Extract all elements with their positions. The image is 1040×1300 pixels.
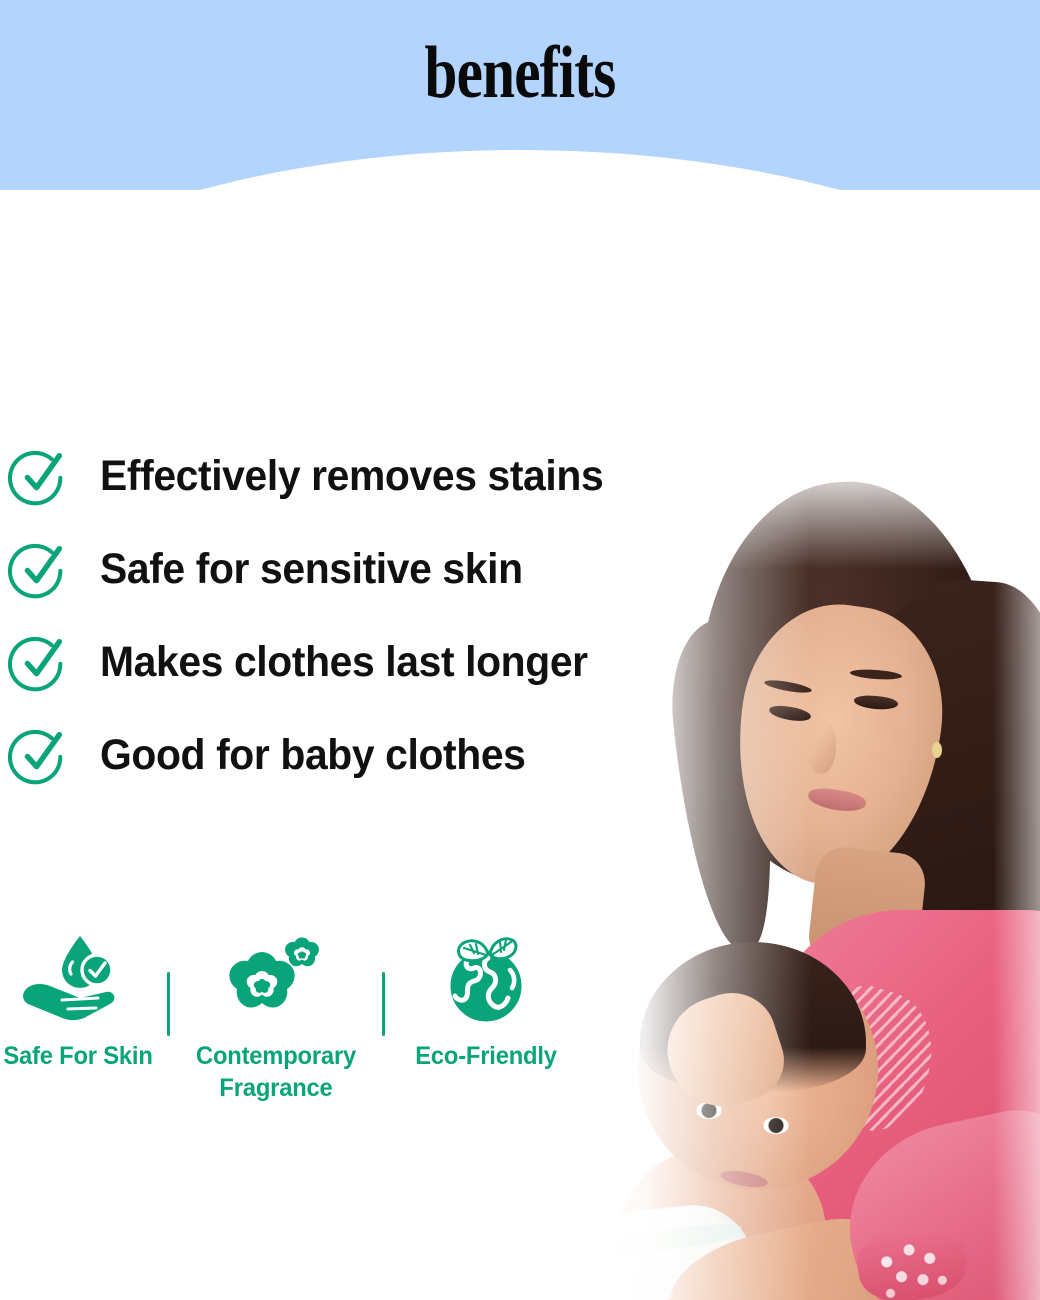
feature-badges: Safe For Skin Contemporary Fragrance bbox=[0, 930, 600, 1130]
globe-leaf-icon bbox=[426, 930, 546, 1026]
check-circle-icon bbox=[8, 632, 70, 694]
benefit-label: Makes clothes last longer bbox=[100, 641, 588, 684]
benefit-item: Safe for sensitive skin bbox=[8, 523, 748, 616]
benefit-item: Effectively removes stains bbox=[8, 430, 748, 523]
check-circle-icon bbox=[8, 539, 70, 601]
page-title: benefits bbox=[104, 36, 936, 110]
hand-droplet-check-icon bbox=[18, 930, 138, 1026]
benefits-list: Effectively removes stains Safe for sens… bbox=[8, 430, 748, 802]
benefit-item: Good for baby clothes bbox=[8, 709, 748, 802]
flower-icon bbox=[216, 930, 336, 1026]
feature-divider bbox=[167, 972, 170, 1036]
check-circle-icon bbox=[8, 446, 70, 508]
benefit-label: Safe for sensitive skin bbox=[100, 548, 523, 591]
feature-label: Contemporary Fragrance bbox=[191, 1040, 362, 1104]
baby-eye-right bbox=[763, 1117, 789, 1134]
feature-divider bbox=[382, 972, 385, 1036]
benefits-page: benefits Effectively removes stains Safe… bbox=[0, 0, 1040, 1300]
feature-badge-safe-for-skin: Safe For Skin bbox=[0, 930, 168, 1072]
benefit-label: Good for baby clothes bbox=[100, 734, 526, 777]
feature-badge-eco-friendly: Eco-Friendly bbox=[396, 930, 576, 1072]
benefit-label: Effectively removes stains bbox=[100, 455, 603, 498]
feature-badge-contemporary-fragrance: Contemporary Fragrance bbox=[186, 930, 366, 1104]
mother-nose bbox=[806, 720, 836, 774]
benefit-item: Makes clothes last longer bbox=[8, 616, 748, 709]
earring bbox=[932, 742, 942, 758]
feature-label: Safe For Skin bbox=[0, 1040, 164, 1072]
check-circle-icon bbox=[8, 725, 70, 787]
feature-label: Eco-Friendly bbox=[401, 1040, 572, 1072]
header-curve-divider bbox=[0, 150, 1040, 190]
